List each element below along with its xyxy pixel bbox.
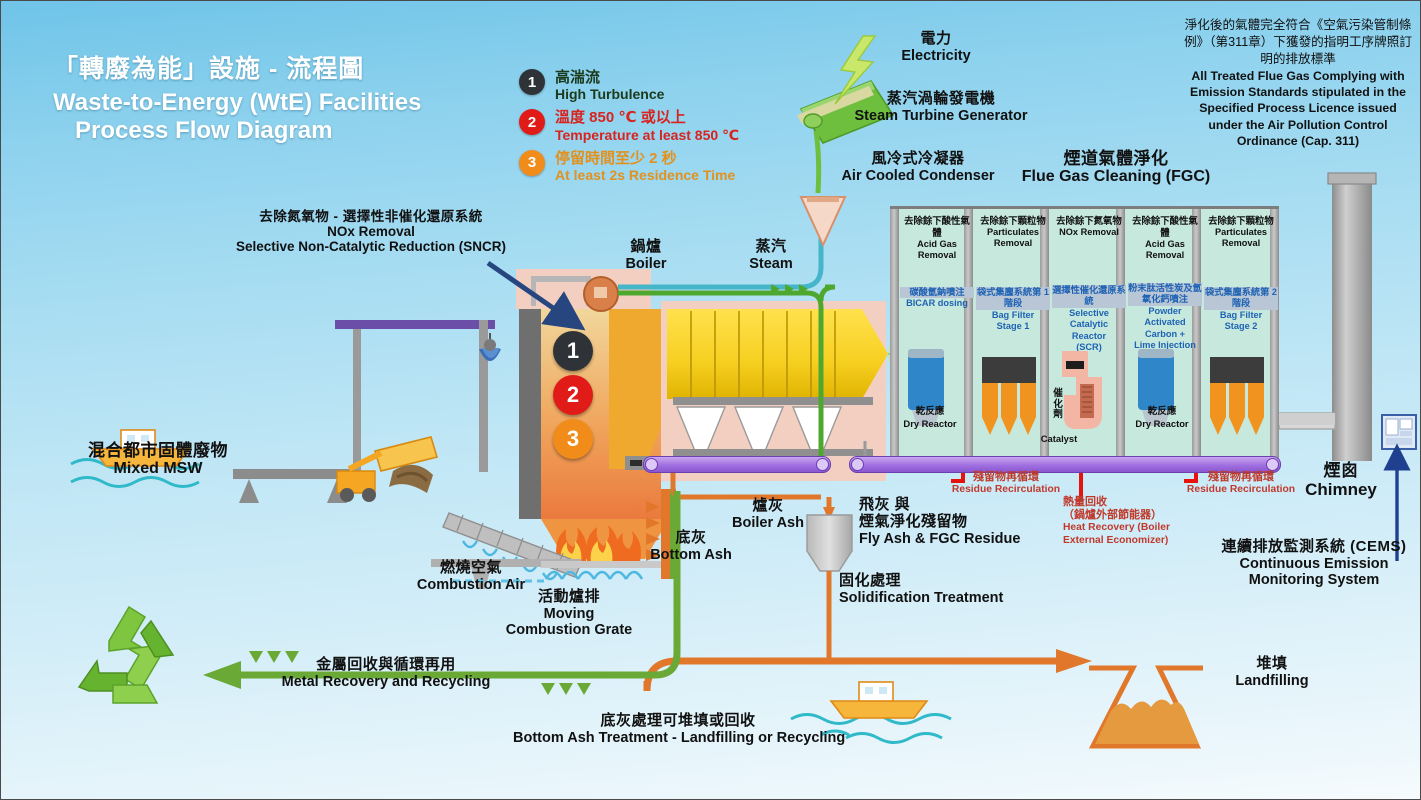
- air-cooled-condenser: [801, 197, 845, 245]
- label-boiler: 鍋爐 Boiler: [606, 239, 686, 272]
- dry-reactor-1-caption: 乾反應 Dry Reactor: [895, 406, 965, 429]
- label-moving-grate: 活動爐排 Moving Combustion Grate: [504, 589, 634, 638]
- furnace-step-1: 1: [553, 331, 593, 371]
- loader-truck-icon: [337, 437, 437, 502]
- conveyor-left: [643, 456, 831, 473]
- furnace-step-3: 3: [553, 419, 593, 459]
- note-residue-recirculation-1: 殘留物再循環 Residue Recirculation: [931, 471, 1081, 497]
- dry-reactor-1-zh: 乾反應: [895, 406, 965, 418]
- label-solidification: 固化處理 Solidification Treatment: [839, 573, 1009, 606]
- note-heat-recovery: 熱量回收 （鍋爐外部節能器） Heat Recovery (Boiler Ext…: [1063, 496, 1189, 547]
- label-mixed-msw: 混合都市固體廢物 Mixed MSW: [63, 441, 253, 478]
- bag-filter-1-icon: [982, 357, 1036, 435]
- landfill-arrow: [1056, 649, 1092, 673]
- label-fgc-section: 煙道氣體淨化 Flue Gas Cleaning (FGC): [1021, 149, 1211, 186]
- label-sncr: 去除氮氧物 - 選擇性非催化還原系統 NOx Removal Selective…: [226, 209, 516, 254]
- label-air-cooled-condenser: 風冷式冷凝器 Air Cooled Condenser: [833, 151, 1003, 184]
- label-bottom-ash-treatment: 底灰處理可堆填或回收 Bottom Ash Treatment - Landfi…: [513, 713, 843, 746]
- label-steam-turbine: 蒸汽渦輪發電機 Steam Turbine Generator: [851, 91, 1031, 124]
- label-bottom-ash: 底灰 Bottom Ash: [641, 530, 741, 563]
- dry-reactor-2-zh: 乾反應: [1127, 406, 1197, 418]
- scr-reactor-icon: [1062, 351, 1102, 429]
- label-steam: 蒸汽 Steam: [736, 239, 806, 272]
- barge-icon-bottom: [831, 682, 927, 718]
- catalyst-caption-en: Catalyst: [1033, 433, 1085, 444]
- fly-ash-silo: [807, 515, 852, 571]
- dry-reactor-2-en: Dry Reactor: [1127, 418, 1197, 429]
- catalyst-caption-zh: 催 化 劑: [1049, 389, 1067, 421]
- dry-reactor-1-en: Dry Reactor: [895, 418, 965, 429]
- diagram-canvas: 「轉廢為能」設施 - 流程圖 Waste-to-Energy (WtE) Fac…: [0, 0, 1421, 800]
- bag-filter-2-icon: [1210, 357, 1264, 435]
- furnace-step-2: 2: [553, 375, 593, 415]
- note-residue-recirculation-2: 殘留物再循環 Residue Recirculation: [1166, 471, 1316, 497]
- label-electricity: 電力 Electricity: [881, 31, 991, 64]
- steam-drum: [584, 277, 618, 311]
- recycle-icon: [79, 607, 173, 703]
- landfill-flow-line: [647, 661, 1061, 691]
- label-landfilling: 堆填 Landfilling: [1229, 656, 1315, 689]
- cems-instrument: [1382, 415, 1416, 449]
- recycling-arrow: [203, 661, 241, 689]
- landfill-pit: [1089, 668, 1203, 746]
- label-fly-ash: 飛灰 與 煙氣淨化殘留物 Fly Ash & FGC Residue: [859, 497, 1024, 547]
- label-cems: 連續排放監測系統 (CEMS) Continuous Emission Moni…: [1209, 539, 1419, 588]
- boiler-body: [625, 301, 888, 481]
- label-boiler-ash: 爐灰 Boiler Ash: [723, 498, 813, 531]
- dry-reactor-2-caption: 乾反應 Dry Reactor: [1127, 406, 1197, 429]
- label-metal-recovery: 金屬回收與循環再用 Metal Recovery and Recycling: [241, 657, 531, 690]
